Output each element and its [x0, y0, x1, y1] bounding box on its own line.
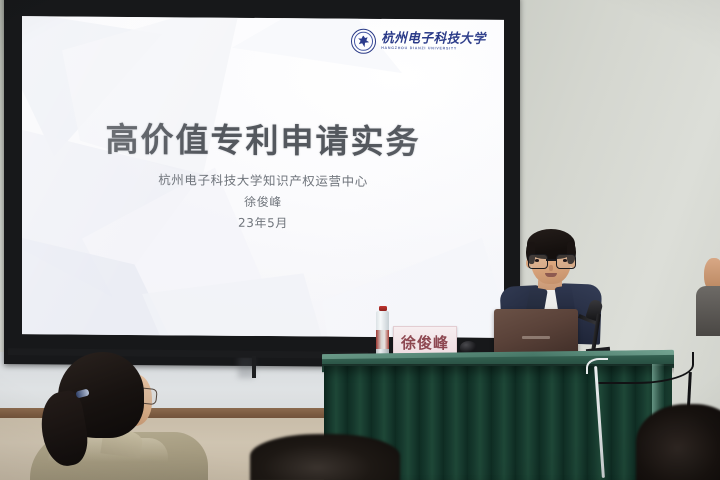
name-card-text: 徐俊峰 — [401, 332, 449, 353]
university-logo-text: 杭州电子科技大学 HANGZHOU DIANZI UNIVERSITY — [381, 32, 486, 51]
eyeglass-lens-left — [528, 254, 548, 269]
university-logo: 杭州电子科技大学 HANGZHOU DIANZI UNIVERSITY — [351, 29, 486, 55]
speaker-eye-right — [563, 259, 567, 262]
audience-member-foreground — [30, 352, 210, 480]
university-name-english: HANGZHOU DIANZI UNIVERSITY — [381, 47, 486, 51]
speaker-eye-left — [535, 259, 539, 262]
screen-pull-tab — [252, 356, 256, 378]
eyeglass-lens-right — [556, 254, 576, 269]
speaker-nose — [549, 265, 553, 271]
university-name-chinese: 杭州电子科技大学 — [381, 32, 486, 46]
person-right-edge-body — [696, 286, 720, 336]
projection-screen-frame: 杭州电子科技大学 HANGZHOU DIANZI UNIVERSITY 高价值专… — [4, 0, 520, 368]
bottle-label — [376, 330, 389, 349]
presentation-slide: 杭州电子科技大学 HANGZHOU DIANZI UNIVERSITY 高价值专… — [22, 16, 504, 338]
audience-member-silhouette-center — [250, 434, 400, 480]
presentation-photo-scene: 杭州电子科技大学 HANGZHOU DIANZI UNIVERSITY 高价值专… — [0, 0, 720, 480]
laptop — [494, 309, 578, 357]
eyeglass-bridge — [546, 259, 556, 261]
projection-screen-surface: 杭州电子科技大学 HANGZHOU DIANZI UNIVERSITY 高价值专… — [22, 16, 504, 338]
slide-polygon-decor — [322, 218, 504, 337]
slide-title: 高价值专利申请实务 — [22, 112, 504, 164]
slide-subtitle-organization: 杭州电子科技大学知识产权运营中心 — [22, 168, 504, 191]
water-bottle — [376, 306, 389, 356]
university-seal-emblem-icon — [351, 29, 376, 54]
laptop-brand-logo — [522, 336, 550, 339]
audience-member-silhouette-right — [636, 404, 720, 480]
